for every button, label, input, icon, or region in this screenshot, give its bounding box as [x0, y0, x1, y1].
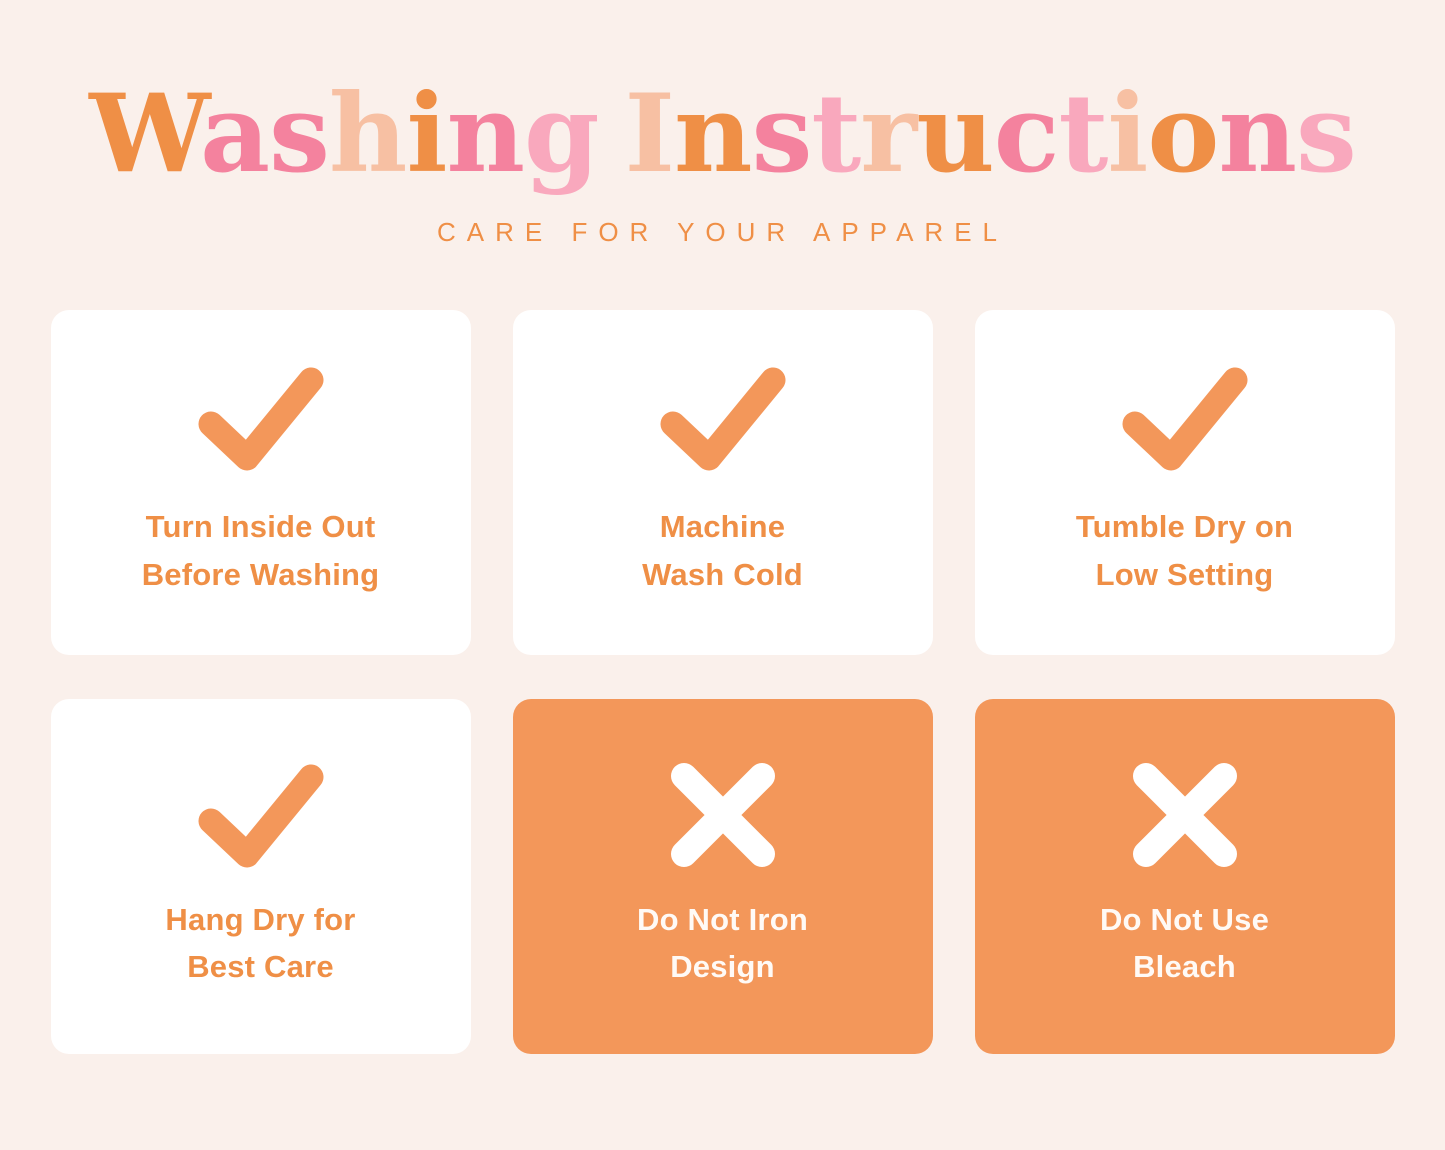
title-letter: a: [200, 71, 269, 197]
page-title: WashingInstructions: [0, 78, 1445, 191]
instruction-card-line1: Do Not Iron: [637, 896, 808, 943]
title-letter: r: [860, 71, 916, 197]
instruction-card: Do Not UseBleach: [975, 699, 1395, 1054]
title-letter: t: [811, 71, 860, 197]
title-letter: c: [994, 71, 1059, 197]
poster-header: WashingInstructions CARE FOR YOUR APPARE…: [0, 0, 1445, 248]
instruction-card-label: Hang Dry forBest Care: [165, 896, 355, 990]
instruction-card: MachineWash Cold: [513, 310, 933, 655]
instruction-card: Tumble Dry onLow Setting: [975, 310, 1395, 655]
check-icon: [1119, 359, 1251, 477]
instruction-card-grid: Turn Inside OutBefore WashingMachineWash…: [50, 310, 1395, 1054]
instruction-card: Turn Inside OutBefore Washing: [51, 310, 471, 655]
instruction-card-label: Do Not UseBleach: [1100, 896, 1269, 990]
instruction-card-line2: Before Washing: [142, 551, 380, 599]
washing-instructions-poster: WashingInstructions CARE FOR YOUR APPARE…: [0, 0, 1445, 1150]
title-letter: s: [1296, 71, 1356, 197]
title-letter: h: [329, 71, 407, 197]
title-letter: o: [1147, 71, 1218, 197]
title-letter: u: [916, 71, 994, 197]
instruction-card-line1: Tumble Dry on: [1076, 503, 1293, 551]
title-letter: i: [406, 71, 446, 197]
title-letter: n: [1218, 71, 1296, 197]
cross-icon: [657, 756, 789, 874]
instruction-card: Hang Dry forBest Care: [51, 699, 471, 1054]
title-letter: s: [752, 71, 812, 197]
title-letter: t: [1058, 71, 1107, 197]
title-letter: g: [524, 71, 599, 197]
instruction-card: Do Not IronDesign: [513, 699, 933, 1054]
cross-icon: [1119, 756, 1251, 874]
instruction-card-line1: Hang Dry for: [165, 896, 355, 943]
instruction-card-line2: Low Setting: [1076, 551, 1293, 599]
title-letter: i: [1107, 71, 1147, 197]
instruction-card-line1: Turn Inside Out: [142, 503, 380, 551]
title-letter: W: [89, 71, 200, 197]
instruction-card-label: Tumble Dry onLow Setting: [1076, 503, 1293, 599]
instruction-card-line1: Machine: [642, 503, 803, 551]
title-letter: s: [269, 71, 329, 197]
check-icon: [195, 756, 327, 874]
title-letter: n: [446, 71, 524, 197]
instruction-card-line2: Bleach: [1100, 943, 1269, 990]
instruction-card-label: Do Not IronDesign: [637, 896, 808, 990]
title-letter: I: [625, 71, 675, 197]
instruction-card-line2: Design: [637, 943, 808, 990]
title-letter: n: [674, 71, 752, 197]
instruction-card-label: Turn Inside OutBefore Washing: [142, 503, 380, 599]
instruction-card-line2: Wash Cold: [642, 551, 803, 599]
instruction-card-label: MachineWash Cold: [642, 503, 803, 599]
poster-subtitle: CARE FOR YOUR APPAREL: [0, 217, 1445, 248]
check-icon: [657, 359, 789, 477]
instruction-card-line1: Do Not Use: [1100, 896, 1269, 943]
check-icon: [195, 359, 327, 477]
instruction-card-line2: Best Care: [165, 943, 355, 990]
